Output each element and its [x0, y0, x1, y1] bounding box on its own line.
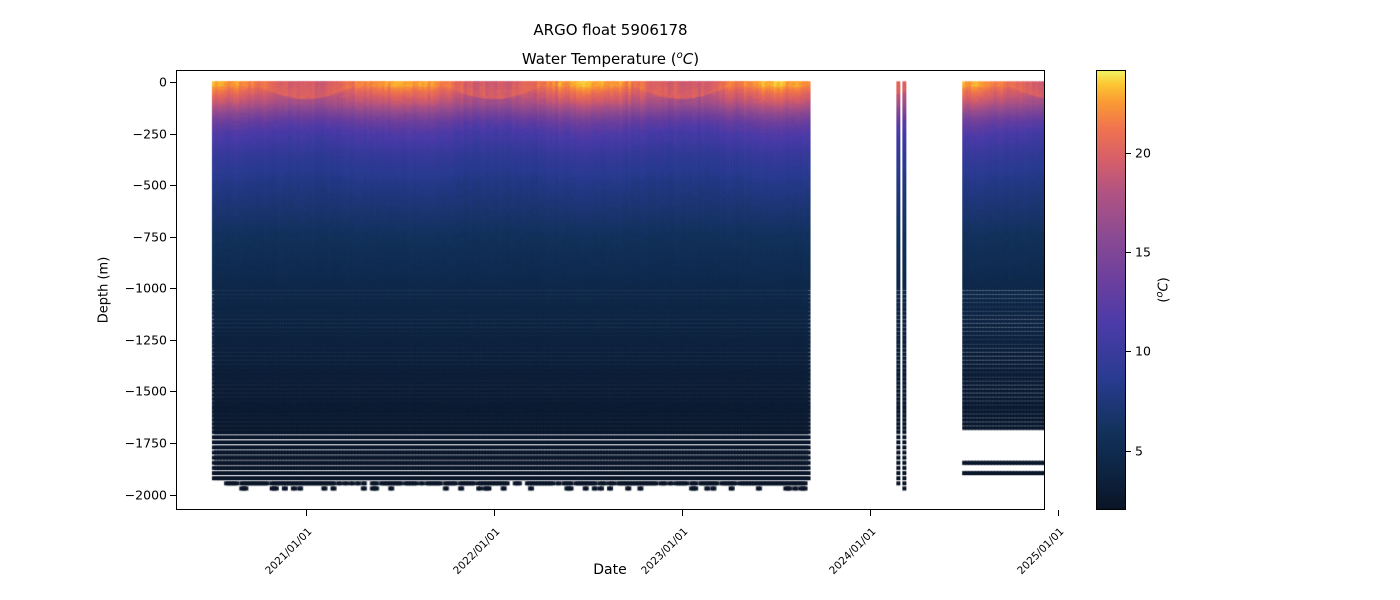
- chart-title: ARGO float 5906178 Water Temperature (oC…: [176, 18, 1045, 72]
- y-tick-mark: [170, 288, 176, 289]
- colorbar-tick-mark: [1126, 351, 1131, 352]
- y-tick-mark: [170, 340, 176, 341]
- y-tick-label: −500: [133, 178, 167, 193]
- y-tick-mark: [170, 134, 176, 135]
- colorbar-paren-close: ): [1157, 277, 1172, 282]
- x-tick-mark: [494, 510, 495, 516]
- title-paren-close: ): [693, 50, 699, 68]
- y-tick-label: −2000: [125, 487, 167, 502]
- x-tick-mark: [1058, 510, 1059, 516]
- y-tick-label: −1000: [125, 281, 167, 296]
- x-tick-label: 2022/01/01: [449, 526, 503, 580]
- temperature-section-scatter: [177, 71, 1044, 509]
- y-tick-label: −1750: [125, 436, 167, 451]
- title-line-2-text: Water Temperature (: [522, 50, 677, 68]
- colorbar-gradient: [1096, 70, 1126, 510]
- colorbar-tick-label: 10: [1135, 344, 1151, 359]
- x-tick-label: 2024/01/01: [825, 526, 879, 580]
- x-tick-mark: [682, 510, 683, 516]
- y-tick-label: −1250: [125, 332, 167, 347]
- colorbar-degree-superscript: o: [1154, 291, 1165, 297]
- y-tick-mark: [170, 185, 176, 186]
- y-tick-label: −750: [133, 229, 167, 244]
- y-tick-mark: [170, 237, 176, 238]
- celsius-unit: C: [683, 50, 693, 68]
- colorbar-label: (oC): [1154, 277, 1171, 302]
- colorbar-celsius-unit: C: [1157, 282, 1172, 291]
- x-tick-label: 2025/01/01: [1013, 526, 1067, 580]
- title-line-2: Water Temperature (oC): [176, 43, 1045, 72]
- plot-axes[interactable]: [176, 70, 1045, 510]
- title-line-1: ARGO float 5906178: [176, 18, 1045, 43]
- x-tick-mark: [870, 510, 871, 516]
- x-axis-label: Date: [593, 562, 626, 578]
- x-tick-label: 2021/01/01: [261, 526, 315, 580]
- colorbar[interactable]: 5101520: [1096, 70, 1126, 510]
- colorbar-tick-label: 20: [1135, 146, 1151, 161]
- y-tick-mark: [170, 391, 176, 392]
- y-tick-label: −250: [133, 126, 167, 141]
- figure-canvas: ARGO float 5906178 Water Temperature (oC…: [0, 0, 1400, 600]
- colorbar-paren-open: (: [1157, 298, 1172, 303]
- y-tick-mark: [170, 495, 176, 496]
- y-tick-mark: [170, 82, 176, 83]
- x-tick-label: 2023/01/01: [637, 526, 691, 580]
- x-tick-mark: [306, 510, 307, 516]
- colorbar-tick-mark: [1126, 153, 1131, 154]
- y-axis-label: Depth (m): [97, 257, 112, 324]
- colorbar-tick-label: 15: [1135, 245, 1151, 260]
- colorbar-tick-mark: [1126, 451, 1131, 452]
- colorbar-tick-label: 5: [1135, 443, 1143, 458]
- colorbar-tick-mark: [1126, 252, 1131, 253]
- y-tick-mark: [170, 443, 176, 444]
- y-tick-label: −1500: [125, 384, 167, 399]
- y-tick-label: 0: [159, 75, 167, 90]
